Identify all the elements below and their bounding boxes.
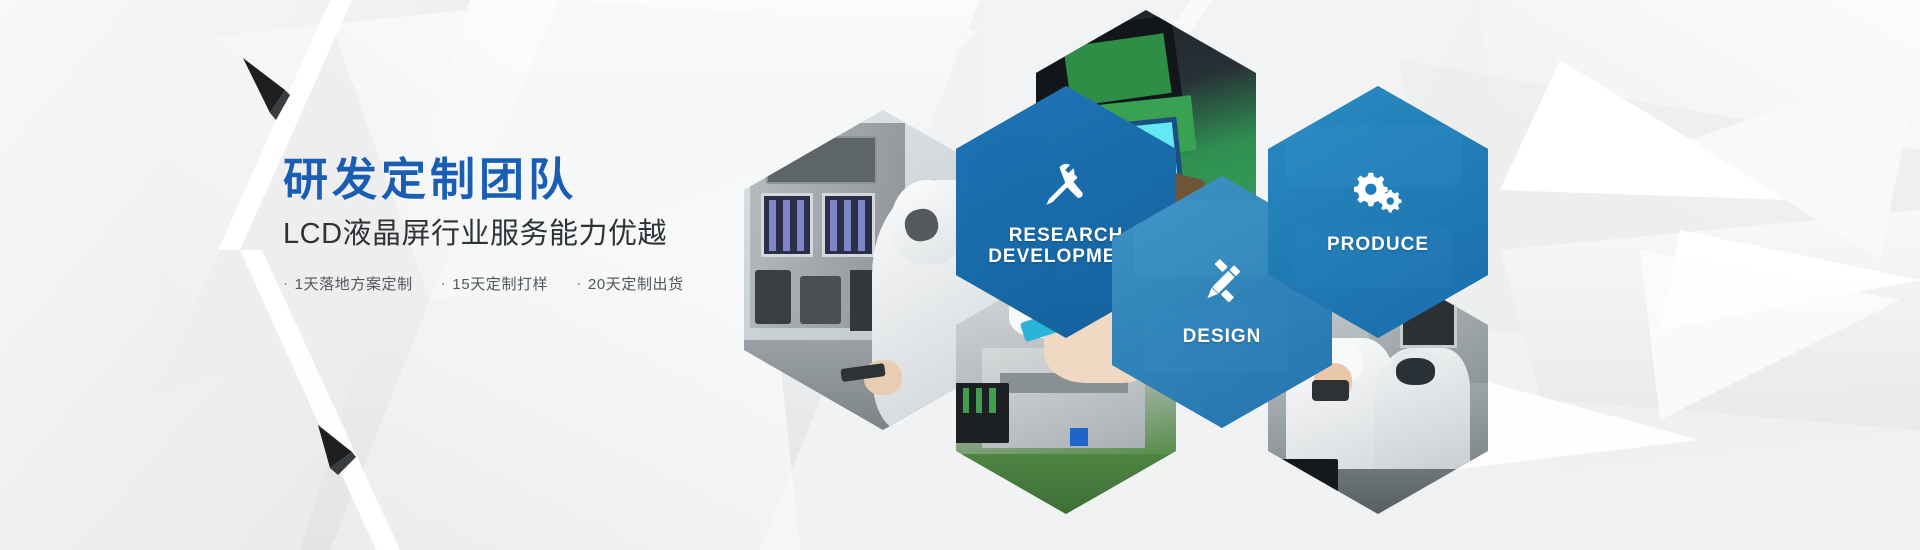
pencil-ruler-icon xyxy=(1196,257,1248,314)
hexagon-title-produce: PRODUCE xyxy=(1327,234,1429,255)
gears-icon xyxy=(1350,169,1406,222)
banner-text-block: 研发定制团队 LCD液晶屏行业服务能力优越 · 1天落地方案定制 · 15天定制… xyxy=(283,155,743,294)
feature-label-3: 20天定制出货 xyxy=(588,273,684,294)
feature-item-3: · 20天定制出货 xyxy=(576,273,684,294)
feature-list: · 1天落地方案定制 · 15天定制打样 · 20天定制出货 xyxy=(283,273,743,294)
bullet-dot-icon: · xyxy=(576,275,582,292)
wrench-screwdriver-icon xyxy=(1040,156,1092,213)
page-subtitle: LCD液晶屏行业服务能力优越 xyxy=(283,217,743,252)
bullet-dot-icon: · xyxy=(283,275,289,292)
bullet-dot-icon: · xyxy=(441,275,447,292)
promo-banner: 研发定制团队 LCD液晶屏行业服务能力优越 · 1天落地方案定制 · 15天定制… xyxy=(0,0,1920,550)
feature-label-2: 15天定制打样 xyxy=(452,273,548,294)
feature-item-2: · 15天定制打样 xyxy=(441,273,549,294)
feature-item-1: · 1天落地方案定制 xyxy=(283,273,413,294)
hexagon-title-line1: RESEARCH xyxy=(1009,225,1124,246)
feature-label-1: 1天落地方案定制 xyxy=(295,273,413,294)
page-title: 研发定制团队 xyxy=(283,155,743,205)
hexagon-photo-cluster: RESEARCH DEVELOPMENT xyxy=(660,0,1920,550)
hexagon-title-design: DESIGN xyxy=(1183,326,1262,347)
